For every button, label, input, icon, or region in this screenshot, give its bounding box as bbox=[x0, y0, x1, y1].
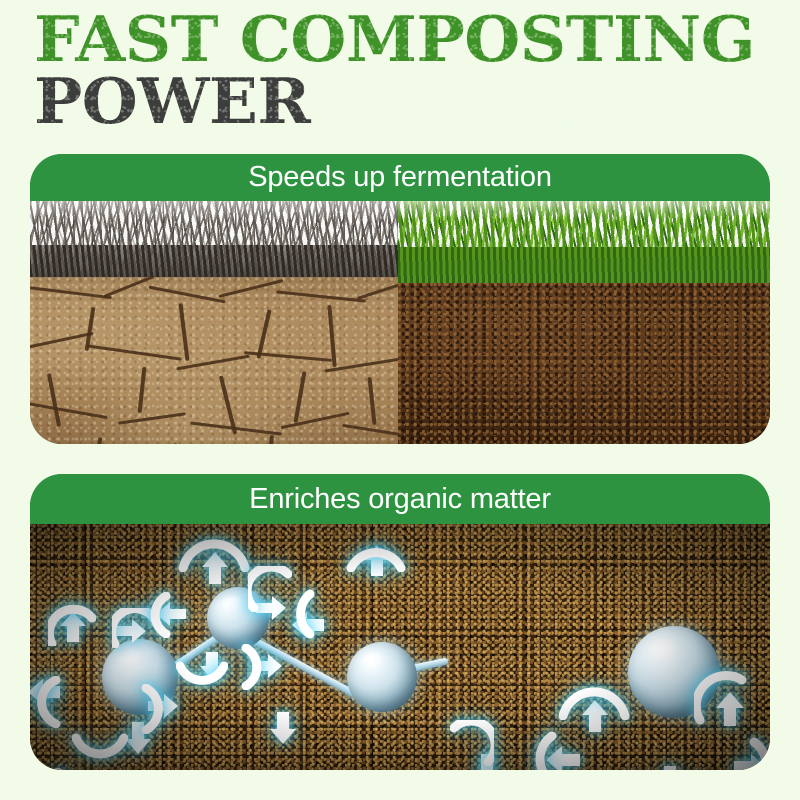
untreated-soil-half bbox=[30, 201, 398, 444]
soil-comparison-photo bbox=[30, 201, 770, 444]
photo-vignette bbox=[30, 524, 770, 770]
treated-soil-half bbox=[398, 201, 770, 444]
dry-cracked-soil bbox=[30, 277, 398, 444]
card-speeds-up-fermentation: Speeds up fermentation bbox=[30, 154, 770, 444]
molecule-compost-photo bbox=[30, 524, 770, 770]
card-banner-fermentation: Speeds up fermentation bbox=[30, 154, 770, 201]
green-grass-base bbox=[398, 247, 770, 283]
page-title-line-2: POWER bbox=[34, 70, 789, 132]
page-title: FAST COMPOSTING POWER bbox=[34, 8, 774, 132]
card-enriches-organic-matter: Enriches organic matter bbox=[30, 474, 770, 770]
dead-grass-base bbox=[30, 245, 398, 281]
rich-soil-grain bbox=[398, 283, 770, 444]
page-title-line-1: FAST COMPOSTING bbox=[34, 8, 789, 70]
rich-dark-soil bbox=[398, 283, 770, 444]
card-banner-organic: Enriches organic matter bbox=[30, 474, 770, 524]
